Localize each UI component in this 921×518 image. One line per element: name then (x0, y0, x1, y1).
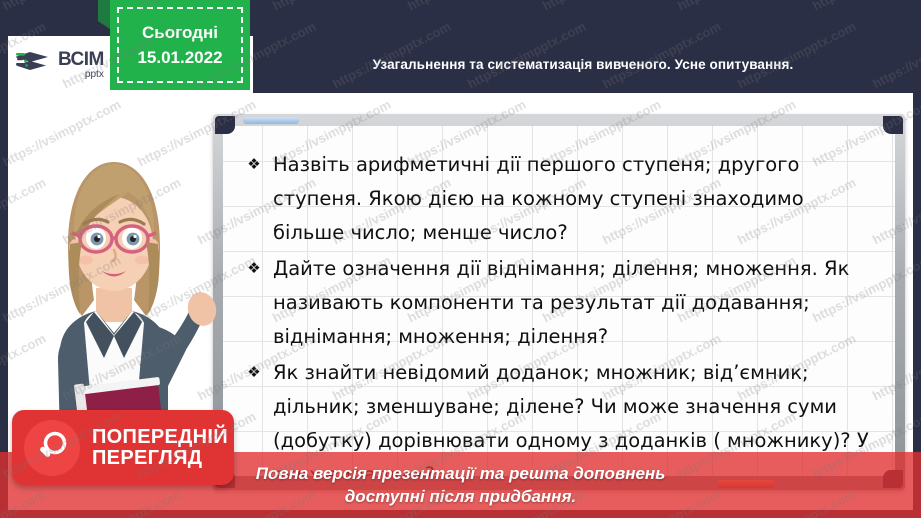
preview-badge-line2: ПЕРЕГЛЯД (92, 448, 228, 468)
purchase-banner-line1: Повна версія презентації та решта доповн… (256, 462, 666, 485)
brand-name: ВСІМ (58, 50, 104, 69)
brand-text: ВСІМ pptx (58, 50, 104, 80)
graduation-cap-icon (16, 48, 56, 82)
blue-marker-icon (243, 117, 299, 124)
purchase-banner-line2: доступні після придбання. (345, 485, 576, 508)
date-badge-value: 15.01.2022 (137, 48, 222, 68)
bullet-diamond-icon: ❖ (245, 356, 263, 390)
list-item-text: Дайте означення дії віднімання; ділення;… (273, 252, 879, 354)
magnifier-icon (24, 420, 80, 476)
whiteboard-surface: ❖ Назвіть арифметичні дії першого ступен… (223, 126, 895, 476)
list-item: ❖ Дайте означення дії віднімання; діленн… (245, 252, 879, 354)
preview-badge[interactable]: ПОПЕРЕДНІЙ ПЕРЕГЛЯД (12, 410, 234, 485)
page-title: Узагальнення та систематизація вивченого… (373, 57, 794, 72)
brand-subtitle: pptx (58, 70, 104, 80)
date-badge: Сьогодні 15.01.2022 (110, 0, 250, 90)
slide-root: Узагальнення та систематизація вивченого… (0, 0, 921, 518)
board-corner-top-right (883, 116, 903, 134)
bullet-diamond-icon: ❖ (245, 252, 263, 286)
bullet-diamond-icon: ❖ (245, 148, 263, 182)
header-band: Узагальнення та систематизація вивченого… (253, 36, 913, 93)
whiteboard-content: ❖ Назвіть арифметичні дії першого ступен… (245, 148, 879, 476)
list-item: ❖ Назвіть арифметичні дії першого ступен… (245, 148, 879, 250)
list-item-text: Назвіть арифметичні дії першого ступеня;… (273, 148, 879, 250)
teacher-illustration (14, 138, 246, 438)
whiteboard: ❖ Назвіть арифметичні дії першого ступен… (213, 114, 905, 490)
board-corner-top-left (215, 116, 235, 134)
whiteboard-frame: ❖ Назвіть арифметичні дії першого ступен… (213, 114, 905, 490)
date-badge-label: Сьогодні (142, 23, 218, 43)
brand-logo[interactable]: ВСІМ pptx (8, 36, 118, 93)
preview-badge-line1: ПОПЕРЕДНІЙ (92, 427, 228, 447)
preview-badge-labels: ПОПЕРЕДНІЙ ПЕРЕГЛЯД (92, 427, 228, 468)
